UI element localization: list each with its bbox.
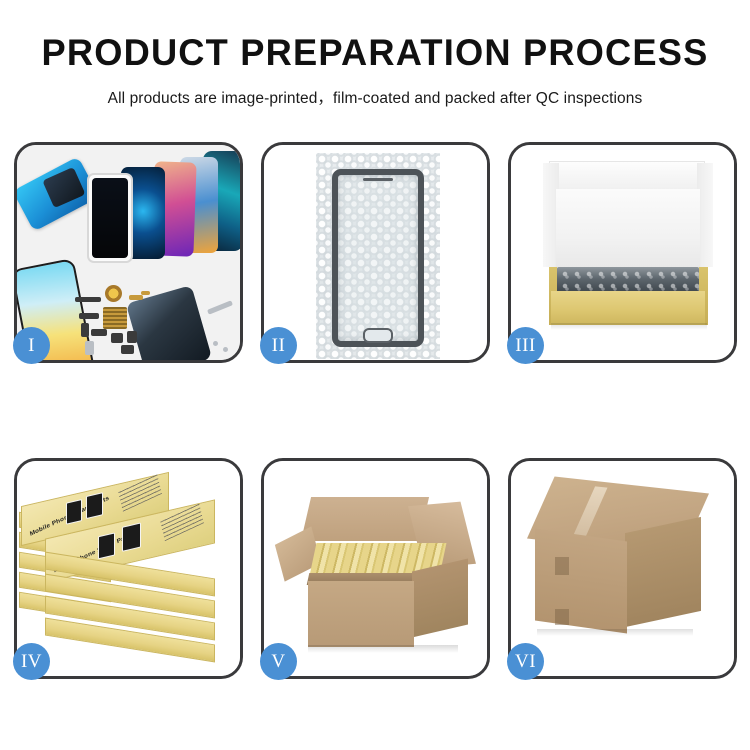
part-screw-1 [213,341,218,346]
panel-4-image-frame: Mobile Phone Spare Parts Mobile Phone Sp… [17,461,240,676]
box-thumb-front-2 [122,522,141,551]
carton-flap-back [301,497,429,541]
box-speclines-rear [118,473,162,511]
process-step-grid: I II [14,142,736,679]
step-badge-4: IV [13,643,50,680]
process-step-panel-3: III [508,142,737,363]
carton-side-panel [412,559,468,638]
step-badge-3: III [507,327,544,364]
part-bracket [81,323,89,337]
part-tweezers [207,300,233,314]
panel-3-image-frame [511,145,734,360]
sealed-carton-photo [511,461,734,676]
sealed-carton-side [625,517,701,627]
box-lid-back [549,161,705,191]
wrapped-screen-in-box [557,267,699,293]
step-badge-6: VI [507,643,544,680]
bubble-wrap-sheet [316,153,440,359]
open-carton-photo [264,461,487,676]
phones-and-parts-photo [17,145,240,360]
part-camera-block [111,333,123,343]
page-subtitle: All products are image-printed，film-coat… [0,86,750,108]
page-header: PRODUCT PREPARATION PROCESS All products… [0,0,750,108]
panel-6-image-frame [511,461,734,676]
part-button-set [127,331,137,343]
part-vibrator [121,345,134,354]
part-sim-tray [85,341,94,355]
box-thumb-rear-2 [86,492,103,519]
process-step-panel-4: Mobile Phone Spare Parts Mobile Phone Sp… [14,458,243,679]
process-step-panel-6: VI [508,458,737,679]
process-step-panel-5: V [261,458,490,679]
carton-front-panel [308,581,414,647]
home-button [363,328,393,343]
stacked-boxes-photo: Mobile Phone Spare Parts Mobile Phone Sp… [17,461,240,676]
sealed-carton-shadow [537,629,693,636]
process-step-panel-1: I [14,142,243,363]
panel-5-image-frame [264,461,487,676]
panel-1-image-frame [17,145,240,360]
earpiece-slot [363,178,393,181]
part-speaker-ring [105,285,122,302]
box-inner-wall [555,189,701,269]
box-drop-shadow [551,323,707,330]
carton-seam-upper [555,557,569,575]
box-front-panel [551,291,705,325]
part-gold-clip [141,291,150,295]
carton-drop-shadow [308,645,458,653]
bubble-wrapped-screen-photo [264,145,487,360]
carton-seam-lower [555,609,569,625]
step-badge-5: V [260,643,297,680]
part-gold-connector [129,295,143,300]
sealed-carton-front [535,529,627,634]
box-thumb-front-1 [98,532,115,559]
step-badge-1: I [13,327,50,364]
part-small-flex [79,313,99,319]
box-thumb-rear-1 [66,499,82,525]
phone-screen-under-wrap [332,169,424,347]
page-title: PRODUCT PREPARATION PROCESS [8,34,743,73]
part-module [91,329,107,336]
part-flex-strip [75,297,101,302]
step-badge-2: II [260,327,297,364]
part-chip-array [103,307,127,329]
part-screw-2 [223,347,228,352]
panel-2-image-frame [264,145,487,360]
boxed-screen-photo [511,145,734,360]
phone-screen-white-bezel [87,173,133,263]
process-step-panel-2: II [261,142,490,363]
